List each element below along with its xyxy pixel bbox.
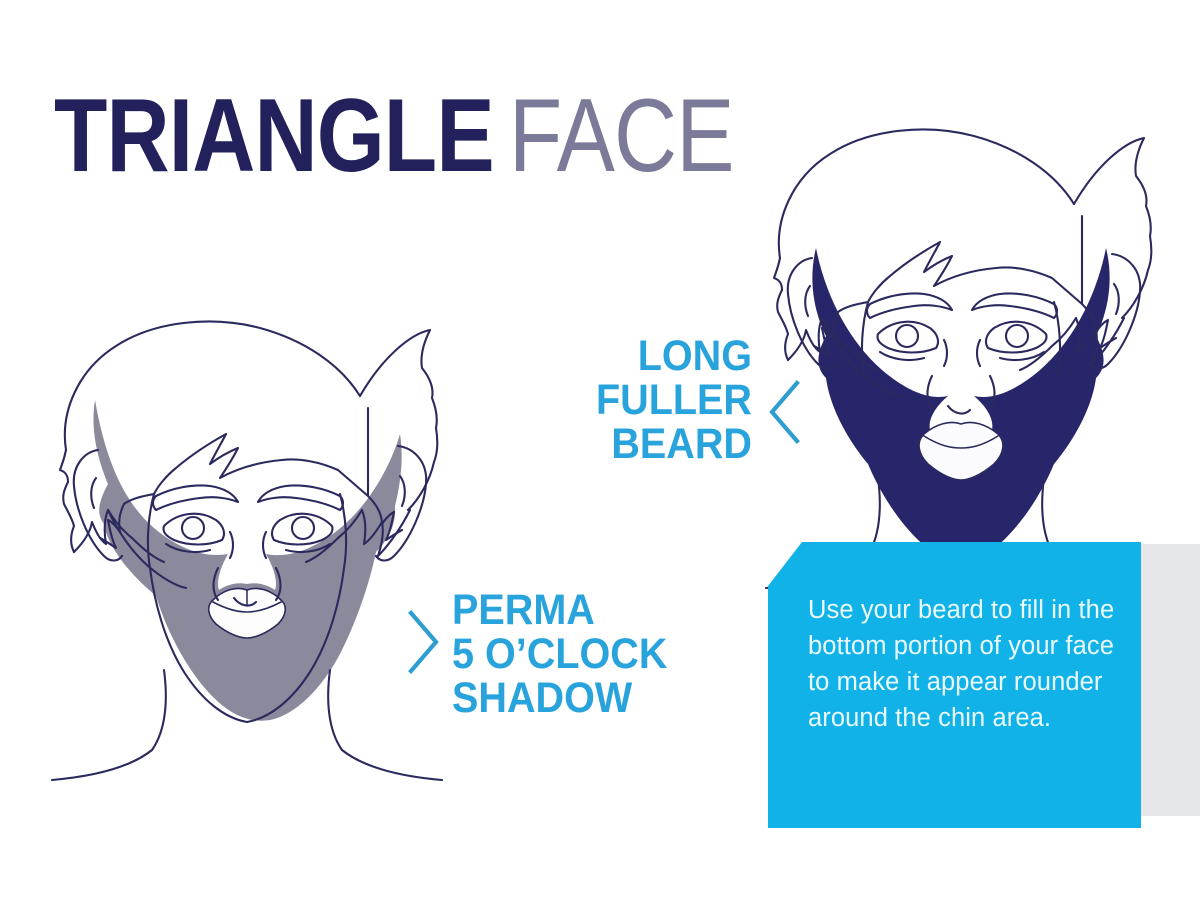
neck-right (328, 670, 342, 750)
chevron-right-icon (406, 608, 442, 676)
tip-box-text: Use your beard to fill in the bottom por… (808, 592, 1120, 736)
shoulder-right (342, 750, 442, 780)
head-outline (779, 130, 1074, 258)
infographic-canvas: TRIANGLEFACE (0, 0, 1200, 900)
eye-right-outer-line (263, 532, 266, 558)
tip-box: Use your beard to fill in the bottom por… (768, 542, 1141, 828)
eye-left-iris (182, 517, 204, 539)
label-perma-shadow-line3: SHADOW (452, 676, 667, 720)
ear-left-inner (91, 478, 96, 508)
hairline-fringe (154, 408, 368, 496)
eye-left-iris (896, 325, 918, 347)
eye-right-outer-line (977, 340, 980, 366)
shoulder-left (52, 750, 152, 780)
eye-right-iris (1006, 325, 1028, 347)
hair-left-spikes (774, 258, 788, 360)
nose-tip (948, 406, 970, 413)
eyebrow-left (867, 293, 952, 318)
full-beard-shape (812, 248, 1109, 563)
label-long-fuller-beard-line1: LONG (504, 334, 752, 378)
label-perma-shadow-line1: PERMA (452, 588, 667, 632)
ear-left-inner (805, 286, 810, 316)
illustration-face-stubble (38, 300, 458, 820)
label-long-fuller-beard-line2: FULLER (504, 378, 752, 422)
label-long-fuller-beard-line3: BEARD (504, 422, 752, 466)
ear-right-inner (1114, 284, 1119, 314)
eyebrow-right (258, 485, 343, 510)
stubble-beard-shape (93, 400, 401, 721)
label-perma-shadow-line2: 5 O’CLOCK (452, 632, 667, 676)
head-outline (65, 322, 360, 450)
eye-left-outer-line (944, 340, 947, 366)
eye-left-outer-line (230, 532, 233, 558)
label-long-fuller-beard: LONG FULLER BEARD (482, 334, 752, 466)
eye-right-iris (292, 517, 314, 539)
eyebrow-left (153, 485, 238, 510)
hairline-fringe (868, 216, 1082, 304)
label-perma-shadow: PERMA 5 O’CLOCK SHADOW (452, 588, 686, 720)
chevron-left-icon (766, 378, 802, 446)
hair-left-spikes (60, 450, 74, 552)
eyebrow-right (972, 293, 1057, 318)
ear-right-inner (400, 476, 405, 506)
title-word-face: FACE (509, 78, 734, 194)
title-word-triangle: TRIANGLE (54, 78, 494, 194)
page-title: TRIANGLEFACE (54, 84, 734, 188)
neck-left (152, 670, 166, 750)
